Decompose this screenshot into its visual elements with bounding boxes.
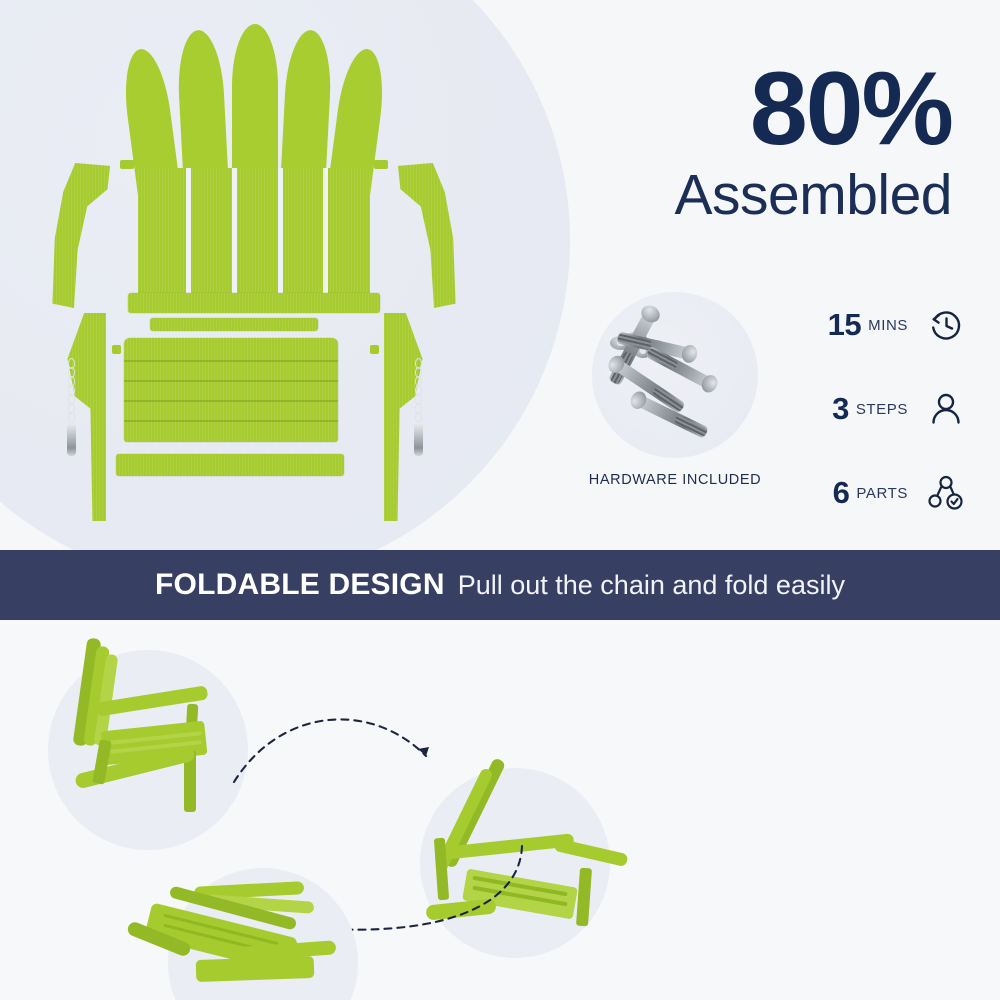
stat-number-steps: 3 [832, 391, 849, 427]
back-slat-gap-3 [278, 168, 283, 308]
seat-slats [124, 338, 338, 442]
bolt-pin-left [67, 424, 76, 456]
banner-title: FOLDABLE DESIGN [155, 568, 445, 602]
foldable-design-banner: FOLDABLE DESIGN Pull out the chain and f… [0, 550, 1000, 620]
leg-2 [576, 868, 592, 927]
cross-rail-lower [116, 454, 344, 476]
chain-left [67, 358, 77, 456]
stat-row-steps: 3 STEPS [786, 380, 966, 438]
three-circles-check-icon [926, 473, 966, 513]
percent-value: 80% [532, 62, 952, 158]
back-left-tab [120, 160, 134, 169]
connector-left [112, 345, 121, 354]
cross-rail-upper [150, 318, 318, 331]
back-slat-gap-1 [186, 168, 191, 308]
infographic-page: 80% Assembled [0, 0, 1000, 1000]
stat-number-mins: 15 [828, 307, 861, 343]
back-slat-gap-4 [323, 168, 328, 308]
chain-right [414, 358, 424, 456]
back-lower-block [138, 168, 370, 308]
headline: 80% Assembled [532, 62, 952, 226]
top-panel: 80% Assembled [0, 0, 1000, 550]
back-right-tab [374, 160, 388, 169]
bolt-pin-right [414, 424, 423, 456]
seat-gap-2 [124, 380, 338, 382]
exploded-chair-parts [20, 8, 470, 538]
hardware-photo [592, 292, 758, 458]
right-leg-panel [384, 313, 436, 521]
hardware-label: HARDWARE INCLUDED [580, 472, 770, 488]
left-leg-panel [54, 313, 106, 521]
back-bottom-rail [128, 293, 380, 313]
stat-number-parts: 6 [833, 475, 850, 511]
clock-history-icon [926, 305, 966, 345]
front-rail-2 [553, 838, 628, 867]
back-slat-gap-2 [232, 168, 237, 308]
stat-row-parts: 6 PARTS [786, 464, 966, 522]
connector-right [370, 345, 379, 354]
stat-unit-steps: STEPS [856, 401, 908, 418]
seat-gap-1 [124, 360, 338, 362]
stat-row-mins: 15 MINS [786, 296, 966, 354]
fold-stage-3-chair [110, 872, 340, 1000]
left-armrest [50, 163, 110, 308]
person-icon [926, 389, 966, 429]
stat-unit-mins: MINS [868, 317, 908, 334]
banner-subtitle: Pull out the chain and fold easily [458, 570, 845, 601]
seat-gap-3 [124, 400, 338, 402]
assembled-label: Assembled [532, 164, 952, 227]
seat-gap-4 [124, 420, 338, 422]
fold-arrow-1 [230, 690, 440, 810]
hardware-included-block: HARDWARE INCLUDED [580, 292, 770, 488]
stats-list: 15 MINS 3 STEPS [786, 296, 966, 548]
folded-bottom-plate [196, 956, 315, 982]
bottom-panel: Fixing bolt [0, 620, 1000, 1000]
stat-unit-parts: PARTS [856, 485, 908, 502]
right-armrest [398, 163, 458, 308]
